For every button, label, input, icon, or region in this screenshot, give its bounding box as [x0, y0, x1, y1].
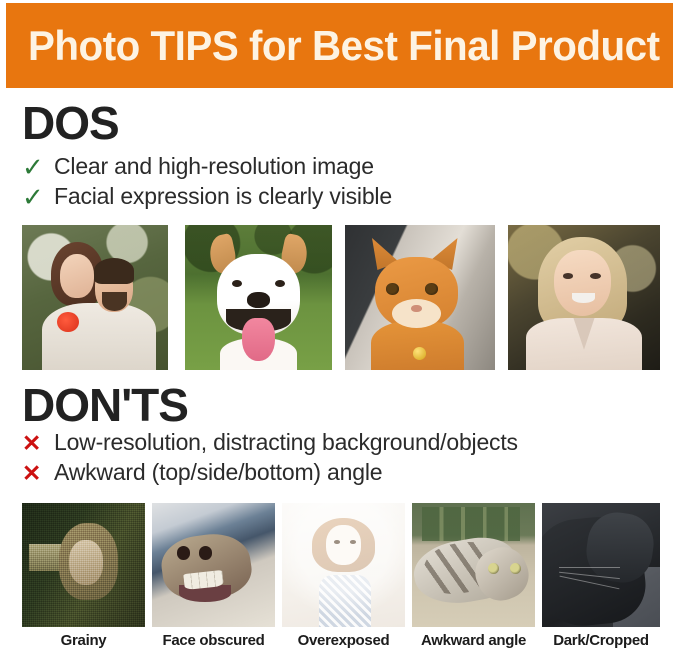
header-banner: Photo TIPS for Best Final Product	[6, 3, 673, 88]
photo-tips-infographic: Photo TIPS for Best Final Product DOS ✓ …	[0, 0, 679, 663]
donts-bullet-item-1: ✕ Low-resolution, distracting background…	[22, 428, 518, 458]
donts-photo-row	[0, 503, 679, 653]
donts-section-heading: DON'TS	[22, 382, 188, 428]
cross-icon: ✕	[22, 432, 54, 455]
cross-icon: ✕	[22, 462, 54, 485]
orange-cat-photo	[345, 225, 495, 370]
caption-grainy: Grainy	[22, 632, 145, 649]
blonde-woman-photo	[508, 225, 660, 370]
caption-overexposed: Overexposed	[282, 632, 405, 649]
dos-bullet-text-1: Clear and high-resolution image	[54, 154, 374, 179]
caption-awkward-angle: Awkward angle	[412, 632, 535, 649]
dos-bullet-list: ✓ Clear and high-resolution image ✓ Faci…	[22, 152, 392, 212]
grainy-photo	[22, 503, 145, 627]
donts-caption-row: Grainy Face obscured Overexposed Awkward…	[0, 632, 679, 658]
check-icon: ✓	[22, 154, 54, 180]
dos-section-heading: DOS	[22, 100, 119, 146]
donts-bullet-item-2: ✕ Awkward (top/side/bottom) angle	[22, 458, 518, 488]
check-icon: ✓	[22, 184, 54, 210]
donts-bullet-list: ✕ Low-resolution, distracting background…	[22, 428, 518, 488]
caption-dark-cropped: Dark/Cropped	[542, 632, 660, 649]
dos-bullet-item-2: ✓ Facial expression is clearly visible	[22, 182, 392, 212]
awkward-angle-photo	[412, 503, 535, 627]
overexposed-photo	[282, 503, 405, 627]
page-title: Photo TIPS for Best Final Product	[28, 25, 660, 67]
dos-photo-row	[0, 225, 679, 375]
dos-bullet-item-1: ✓ Clear and high-resolution image	[22, 152, 392, 182]
donts-bullet-text-1: Low-resolution, distracting background/o…	[54, 430, 518, 455]
dos-bullet-text-2: Facial expression is clearly visible	[54, 184, 392, 209]
white-dog-photo	[185, 225, 332, 370]
face-obscured-photo	[152, 503, 275, 627]
dark-cropped-photo	[542, 503, 660, 627]
caption-face-obscured: Face obscured	[152, 632, 275, 649]
donts-bullet-text-2: Awkward (top/side/bottom) angle	[54, 460, 382, 485]
couple-smiling-photo	[22, 225, 168, 370]
